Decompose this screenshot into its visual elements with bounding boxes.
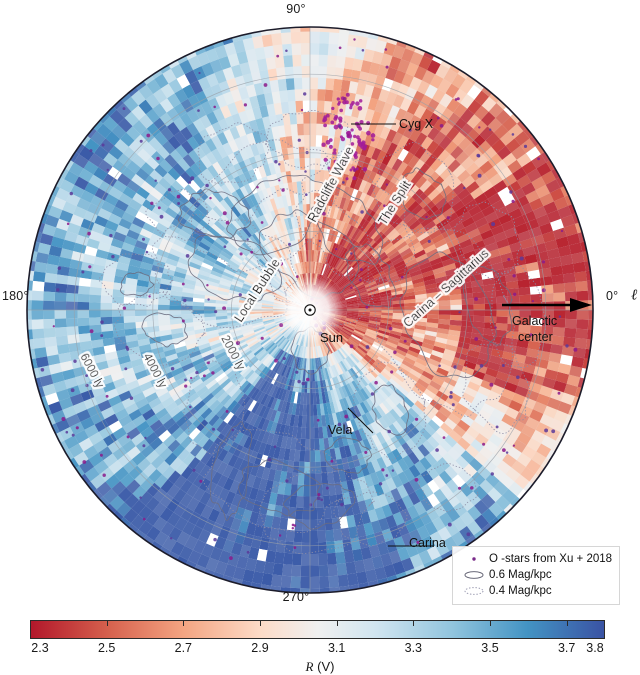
dotted-contour-icon — [459, 585, 489, 597]
extinction-cell — [304, 462, 310, 474]
extinction-cell — [101, 288, 113, 296]
o-star-point — [354, 155, 358, 159]
extinction-cell — [302, 531, 310, 543]
extinction-cell — [273, 563, 284, 576]
extinction-cell — [310, 112, 317, 124]
extinction-cell — [299, 462, 305, 474]
extinction-cell — [33, 338, 46, 349]
o-star-point — [130, 396, 133, 399]
o-star-point — [305, 193, 308, 196]
extinction-cell — [318, 78, 327, 90]
o-star-point — [106, 395, 109, 398]
extinction-cell — [67, 285, 79, 294]
extinction-cell — [319, 553, 328, 565]
o-star-point — [511, 200, 514, 203]
extinction-cell — [439, 305, 451, 310]
extinction-cell — [553, 283, 565, 293]
o-star-point — [404, 340, 407, 343]
extinction-polar-figure: Local Bubble Radcliffe Wave The Split Ca… — [0, 0, 640, 671]
o-star-point — [489, 383, 493, 387]
extinction-cell — [310, 382, 313, 394]
colorbar-tick — [490, 620, 491, 626]
o-star-point — [247, 238, 249, 240]
extinction-cell — [563, 337, 576, 348]
polar-map-svg: Local Bubble Radcliffe Wave The Split Ca… — [18, 18, 602, 602]
galactic-longitude-symbol: ℓ — [631, 288, 637, 305]
o-star-point — [207, 298, 209, 300]
o-star-point — [226, 410, 229, 413]
extinction-cell — [286, 530, 295, 542]
extinction-cell — [288, 101, 296, 113]
map-legend: O -stars from Xu + 2018 0.6 Mag/kpc 0.4 … — [452, 546, 620, 605]
o-star-point — [385, 48, 388, 51]
extinction-cell — [56, 336, 69, 346]
extinction-cell — [303, 508, 310, 520]
o-star-point — [494, 326, 496, 328]
o-star-point — [297, 380, 300, 383]
extinction-cell — [55, 283, 67, 293]
o-star-point — [261, 221, 264, 224]
o-star-point — [478, 126, 480, 128]
extinction-cell — [306, 416, 310, 428]
extinction-cell — [55, 327, 67, 337]
o-star-point — [338, 101, 341, 104]
colorbar-tick — [107, 620, 108, 626]
o-star-point — [150, 202, 153, 205]
extinction-cell — [291, 484, 298, 496]
o-star-point — [347, 134, 350, 137]
extinction-cell — [262, 573, 273, 586]
extinction-cell — [310, 531, 318, 543]
extinction-cell — [135, 310, 147, 316]
o-star-point — [329, 138, 333, 142]
extinction-cell — [304, 485, 311, 497]
o-star-point — [301, 109, 303, 111]
extinction-cell — [89, 302, 101, 310]
extinction-cell — [303, 112, 310, 124]
extinction-cell — [303, 100, 310, 112]
o-star-point — [350, 344, 354, 348]
o-star-point — [341, 137, 345, 141]
o-star-point — [333, 117, 337, 121]
extinction-cell — [43, 301, 55, 310]
extinction-cell — [20, 310, 32, 320]
o-star-point — [416, 541, 419, 544]
o-star-point — [278, 163, 281, 166]
colorbar-tick — [183, 620, 184, 626]
o-star-point — [520, 257, 524, 261]
extinction-cell — [32, 329, 44, 340]
extinction-cell — [319, 32, 329, 44]
extinction-cell — [519, 295, 531, 303]
legend-label-contour-04: 0.4 Mag/kpc — [489, 585, 552, 597]
o-star-point — [544, 428, 548, 432]
extinction-cell — [45, 337, 58, 348]
extinction-cell — [588, 310, 600, 320]
o-star-point — [146, 251, 148, 253]
o-star-point — [100, 454, 103, 457]
o-star-point — [345, 177, 348, 180]
o-star-point — [250, 251, 253, 254]
o-star-point — [302, 382, 306, 386]
extinction-cell — [310, 542, 319, 554]
legend-label-o-stars: O -stars from Xu + 2018 — [489, 553, 612, 565]
o-star-point — [358, 142, 363, 147]
o-star-point — [154, 179, 156, 181]
extinction-cell — [305, 158, 310, 170]
extinction-cell — [573, 262, 586, 273]
o-star-point — [306, 378, 310, 382]
extinction-cell — [302, 77, 310, 89]
extinction-cell — [462, 299, 474, 305]
o-star-point — [339, 109, 343, 113]
extinction-cell — [20, 320, 32, 331]
o-star-point — [296, 275, 299, 278]
legend-label-contour-06: 0.6 Mag/kpc — [489, 569, 552, 581]
extinction-cell — [508, 317, 520, 325]
o-star-point — [205, 184, 209, 188]
extinction-cell — [32, 281, 44, 292]
o-star-point — [330, 121, 334, 125]
o-star-point — [214, 310, 217, 313]
o-star-point — [482, 443, 485, 446]
o-star-point — [476, 154, 480, 158]
extinction-cell — [336, 552, 346, 565]
extinction-cell — [278, 79, 287, 91]
extinction-cell — [101, 324, 113, 332]
extinction-cell — [89, 295, 101, 303]
extinction-cell — [310, 147, 316, 159]
extinction-cell — [34, 262, 47, 273]
extinction-cell — [439, 315, 451, 320]
extinction-cell — [302, 66, 311, 78]
o-star-point — [409, 129, 412, 132]
o-star-point — [447, 216, 450, 219]
extinction-cell — [329, 576, 340, 588]
o-star-point — [323, 124, 327, 128]
extinction-cell — [274, 552, 284, 565]
extinction-cell — [301, 43, 310, 55]
o-star-point — [76, 426, 79, 429]
colorbar-tick-label: 2.9 — [251, 641, 268, 655]
o-star-point — [489, 129, 491, 131]
extinction-cell — [370, 308, 382, 311]
extinction-cell — [347, 34, 358, 47]
o-star-point — [182, 320, 185, 323]
extinction-cell — [123, 310, 135, 317]
o-star-point — [184, 384, 187, 387]
extinction-cell — [135, 298, 147, 305]
extinction-cell — [314, 427, 319, 439]
extinction-cell — [317, 101, 325, 113]
o-star-point — [190, 377, 192, 379]
extinction-cell — [450, 299, 462, 305]
extinction-cell — [158, 315, 170, 321]
extinction-cell — [271, 574, 282, 587]
extinction-cell — [473, 304, 485, 310]
colorbar-tick-label: 2.7 — [175, 641, 192, 655]
o-star-point — [342, 181, 345, 184]
o-star-point — [392, 469, 394, 471]
o-star-point — [184, 379, 187, 382]
o-star-point — [197, 109, 200, 112]
extinction-cell — [519, 317, 531, 325]
extinction-cell — [564, 328, 576, 338]
solid-contour-icon — [459, 569, 489, 581]
extinction-cell — [337, 45, 348, 58]
extinction-cell — [78, 286, 90, 295]
extinction-cell — [310, 393, 313, 405]
o-star-point — [466, 532, 470, 536]
o-star-point — [321, 142, 325, 146]
extinction-cell — [310, 577, 320, 589]
extinction-cell — [496, 323, 508, 331]
extinction-cell — [310, 473, 316, 485]
o-star-point — [448, 523, 452, 527]
extinction-cell — [302, 519, 310, 531]
extinction-cell — [32, 300, 44, 310]
extinction-cell — [324, 507, 332, 519]
o-star-point — [359, 279, 362, 282]
o-star-point — [168, 188, 171, 191]
extinction-cell — [55, 301, 67, 310]
o-star-point — [502, 364, 505, 367]
star-dot-icon — [459, 553, 489, 565]
extinction-cell — [292, 55, 301, 67]
extinction-cell — [317, 519, 325, 531]
extinction-cell — [310, 565, 319, 577]
o-star-point — [350, 128, 353, 131]
o-star-point — [123, 307, 126, 310]
o-star-point — [140, 140, 143, 143]
o-star-point — [496, 425, 499, 428]
extinction-cell — [112, 310, 124, 317]
extinction-cell — [318, 542, 327, 554]
extinction-cell — [78, 325, 90, 334]
o-star-point — [458, 311, 460, 313]
extinction-cell — [204, 306, 216, 310]
colorbar-tick-label: 3.7 — [558, 641, 575, 655]
o-star-point — [183, 299, 186, 302]
o-star-point — [360, 268, 363, 271]
o-star-point — [274, 445, 277, 448]
o-star-point — [142, 238, 145, 241]
extinction-cell — [529, 278, 541, 287]
o-star-point — [401, 276, 404, 279]
o-star-point — [229, 556, 233, 560]
extinction-cell — [310, 227, 313, 239]
extinction-cell — [462, 315, 474, 321]
o-star-point — [71, 388, 75, 392]
o-star-point — [102, 144, 105, 147]
extinction-cell — [302, 542, 311, 554]
extinction-cell — [315, 439, 320, 451]
o-star-point — [209, 197, 211, 199]
o-star-point — [170, 537, 172, 539]
extinction-cell — [310, 416, 314, 428]
extinction-cell — [315, 450, 321, 462]
o-star-point — [143, 518, 146, 521]
o-star-point — [331, 107, 334, 110]
o-star-point — [319, 240, 321, 242]
o-star-point — [338, 125, 341, 128]
o-star-point — [385, 474, 388, 477]
extinction-cell — [462, 310, 474, 316]
o-star-point — [353, 38, 355, 40]
colorbar-label-prefix: R — [306, 659, 314, 674]
extinction-cell — [295, 508, 303, 520]
extinction-cell — [32, 319, 44, 329]
extinction-cell — [382, 307, 394, 310]
extinction-cell — [326, 67, 335, 79]
o-star-point — [148, 295, 150, 297]
o-star-point — [239, 293, 242, 296]
o-star-point — [261, 337, 264, 340]
o-star-point — [171, 367, 174, 370]
o-star-point — [100, 334, 103, 337]
extinction-cell — [587, 280, 599, 291]
extinction-cell — [181, 310, 193, 315]
extinction-cell — [317, 89, 325, 101]
extinction-cell — [508, 295, 520, 303]
extinction-cell — [542, 318, 554, 327]
o-star-point — [160, 215, 164, 219]
angle-label-0: 0° — [606, 289, 618, 303]
o-star-point — [344, 415, 348, 419]
colorbar-section: 2.32.52.72.93.13.33.53.73.8 R (V) — [0, 612, 640, 671]
extinction-cell — [304, 123, 311, 135]
extinction-cell — [66, 318, 78, 327]
extinction-cell — [333, 79, 342, 91]
extinction-cell — [274, 56, 284, 69]
extinction-cell — [518, 287, 530, 296]
extinction-cell — [310, 370, 313, 382]
o-star-point — [363, 167, 367, 171]
extinction-cell — [271, 33, 282, 46]
o-star-point — [123, 107, 126, 110]
o-star-point — [294, 524, 297, 527]
angle-label-90: 90° — [286, 2, 306, 16]
o-star-point — [247, 551, 250, 554]
o-star-point — [359, 99, 362, 102]
o-star-point — [278, 179, 280, 181]
extinction-cell — [321, 473, 328, 485]
extinction-cell — [485, 297, 497, 304]
extinction-cell — [124, 322, 136, 329]
o-star-point — [90, 149, 93, 152]
extinction-cell — [427, 314, 439, 319]
angle-label-270: 270° — [283, 590, 310, 604]
legend-item-o-stars: O -stars from Xu + 2018 — [459, 551, 613, 567]
o-star-point — [425, 216, 427, 218]
o-star-point — [70, 192, 73, 195]
extinction-cell — [347, 573, 358, 586]
o-star-point — [156, 157, 160, 161]
extinction-cell — [530, 286, 542, 295]
o-star-point — [512, 133, 515, 136]
o-star-point — [573, 348, 577, 352]
o-star-point — [73, 359, 76, 362]
extinction-cell — [310, 20, 320, 32]
colorbar-axis-label: R (V) — [306, 659, 335, 675]
extinction-cell — [158, 305, 170, 310]
extinction-cell — [450, 305, 462, 310]
o-star-point — [182, 283, 185, 286]
extinction-cell — [552, 336, 565, 346]
extinction-cell — [204, 310, 216, 314]
o-star-point — [350, 103, 354, 107]
o-star-point — [374, 381, 378, 385]
extinction-cell — [576, 319, 588, 329]
extinction-cell — [100, 303, 112, 310]
extinction-cell — [334, 67, 344, 80]
extinction-cell — [44, 328, 56, 338]
o-star-point — [524, 145, 527, 148]
o-star-point — [206, 284, 208, 286]
extinction-cell — [310, 135, 316, 147]
o-star-point — [109, 234, 112, 237]
o-star-point — [390, 370, 393, 373]
o-star-point — [317, 493, 320, 496]
extinction-cell — [77, 302, 89, 310]
o-star-point — [355, 101, 359, 105]
o-star-point — [450, 391, 453, 394]
extinction-cell — [45, 273, 58, 284]
colorbar-tick — [337, 620, 338, 626]
extinction-cell — [100, 310, 112, 317]
o-star-point — [303, 92, 306, 95]
extinction-cell — [291, 124, 298, 136]
extinction-cell — [310, 588, 320, 600]
extinction-cell — [112, 296, 124, 303]
o-star-point — [333, 148, 336, 151]
o-star-point — [213, 106, 216, 109]
extinction-cell — [306, 404, 310, 416]
extinction-cell — [310, 427, 315, 439]
colorbar-tick — [413, 620, 414, 626]
o-star-point — [53, 325, 55, 327]
extinction-cell — [90, 287, 102, 296]
o-star-point — [295, 371, 298, 374]
o-star-point — [125, 346, 128, 349]
o-star-point — [58, 267, 61, 270]
extinction-cell — [67, 334, 80, 344]
o-star-point — [358, 127, 362, 131]
extinction-cell — [113, 323, 125, 331]
extinction-cell — [33, 271, 46, 282]
o-star-point — [463, 187, 465, 189]
extinction-cell — [147, 304, 159, 310]
extinction-cell — [327, 553, 337, 565]
o-star-point — [276, 55, 279, 58]
extinction-cell — [325, 90, 334, 102]
o-star-point — [102, 473, 105, 476]
colorbar-ticks — [30, 620, 605, 639]
extinction-cell — [77, 310, 89, 318]
extinction-cell — [89, 310, 101, 318]
extinction-cell — [496, 310, 508, 317]
extinction-cell — [291, 565, 301, 577]
o-star-point — [288, 243, 291, 246]
extinction-cell — [564, 282, 576, 292]
extinction-cell — [553, 327, 565, 337]
o-star-point — [415, 478, 419, 482]
extinction-cell — [540, 276, 553, 286]
extinction-cell — [338, 33, 349, 46]
o-star-point — [437, 117, 440, 120]
o-star-point — [415, 418, 418, 421]
extinction-cell — [290, 20, 301, 32]
